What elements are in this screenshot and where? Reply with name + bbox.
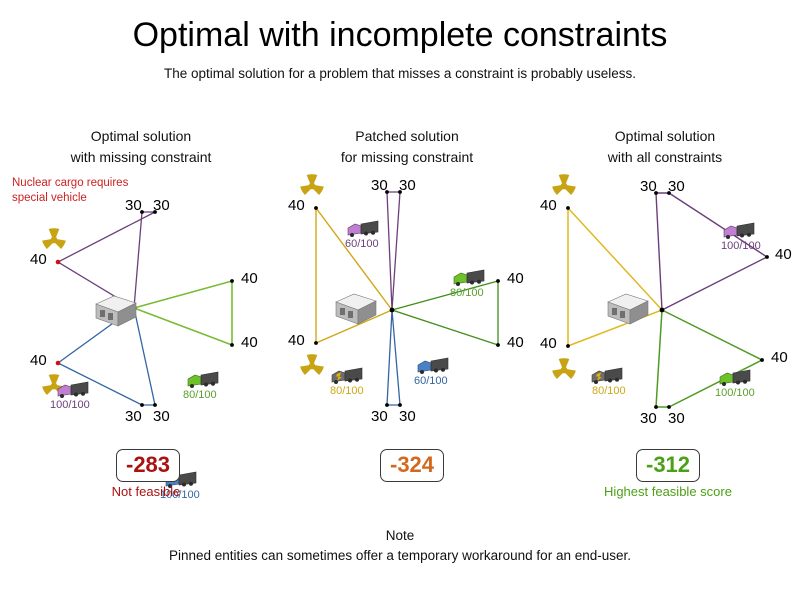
note-body: Pinned entities can sometimes offer a te… bbox=[0, 548, 800, 563]
route-purple bbox=[58, 212, 155, 308]
demand-label: 40 bbox=[241, 334, 258, 351]
demand-label: 40 bbox=[288, 197, 305, 214]
route-blue bbox=[387, 310, 400, 405]
panel-optimal-missing-constraint: Optimal solution with missing constraint… bbox=[8, 118, 274, 428]
green-truck-icon bbox=[454, 270, 484, 286]
panel-optimal-all-constraints: Optimal solution with all constraints bbox=[532, 118, 798, 428]
customer-nodes bbox=[140, 210, 234, 407]
panel-2-canvas bbox=[274, 118, 540, 428]
gold-truck-icon bbox=[332, 368, 362, 384]
demand-label: 30 bbox=[153, 197, 170, 214]
depot-node bbox=[390, 308, 395, 313]
score-badge-panel-2: -324 bbox=[380, 449, 444, 482]
blue-truck-icon bbox=[418, 358, 448, 374]
demand-label: 30 bbox=[399, 408, 416, 425]
demand-label: 40 bbox=[507, 334, 524, 351]
demand-label: 40 bbox=[288, 332, 305, 349]
vehicle-capacity-label: 60/100 bbox=[345, 238, 379, 250]
panel-1-canvas bbox=[8, 118, 274, 428]
diagram-page: Optimal with incomplete constraints The … bbox=[0, 0, 800, 600]
purple-truck-icon bbox=[348, 221, 378, 237]
vehicle-capacity-label: 80/100 bbox=[330, 385, 364, 397]
green-truck-icon bbox=[720, 370, 750, 386]
page-subtitle: The optimal solution for a problem that … bbox=[0, 66, 800, 81]
demand-label: 30 bbox=[640, 178, 657, 195]
demand-label: 30 bbox=[371, 177, 388, 194]
vehicle-capacity-label: 80/100 bbox=[183, 389, 217, 401]
radiation-icon bbox=[300, 354, 324, 375]
gold-truck-icon bbox=[592, 368, 622, 384]
purple-truck-icon bbox=[58, 382, 88, 398]
demand-label: 40 bbox=[30, 251, 47, 268]
demand-label: 30 bbox=[125, 197, 142, 214]
panel-patched-missing-constraint: Patched solution for missing constraint bbox=[274, 118, 540, 428]
demand-label: 30 bbox=[399, 177, 416, 194]
vehicle-capacity-label: 80/100 bbox=[450, 287, 484, 299]
purple-truck-icon bbox=[724, 223, 754, 239]
demand-label: 30 bbox=[668, 178, 685, 195]
depot-icon bbox=[608, 294, 648, 324]
route-green bbox=[134, 281, 232, 345]
demand-label: 40 bbox=[775, 246, 792, 263]
demand-label: 40 bbox=[540, 197, 557, 214]
score-badge-panel-3: -312 bbox=[636, 449, 700, 482]
demand-label: 40 bbox=[771, 349, 788, 366]
green-truck-icon bbox=[188, 372, 218, 388]
demand-label: 40 bbox=[507, 270, 524, 287]
demand-label: 30 bbox=[125, 408, 142, 425]
demand-label: 30 bbox=[668, 410, 685, 427]
note-heading: Note bbox=[0, 528, 800, 543]
radiation-icon bbox=[552, 174, 576, 195]
depot-icon bbox=[96, 296, 136, 326]
score-caption-panel-1: Not feasible bbox=[66, 484, 226, 499]
vehicle-capacity-label: 80/100 bbox=[592, 385, 626, 397]
demand-label: 30 bbox=[153, 408, 170, 425]
demand-label: 40 bbox=[241, 270, 258, 287]
route-gold bbox=[568, 208, 662, 346]
demand-label: 40 bbox=[540, 335, 557, 352]
vehicle-capacity-label: 60/100 bbox=[414, 375, 448, 387]
radiation-icon bbox=[42, 228, 66, 249]
demand-label: 30 bbox=[640, 410, 657, 427]
depot-node bbox=[660, 308, 665, 313]
nuclear-customer-nodes bbox=[56, 260, 61, 366]
route-purple bbox=[387, 192, 400, 310]
score-caption-panel-3: Highest feasible score bbox=[580, 484, 756, 499]
vehicle-capacity-label: 100/100 bbox=[715, 387, 755, 399]
score-badge-panel-1: -283 bbox=[116, 449, 180, 482]
demand-label: 30 bbox=[371, 408, 388, 425]
radiation-icon bbox=[552, 358, 576, 379]
vehicle-capacity-label: 100/100 bbox=[50, 399, 90, 411]
demand-label: 40 bbox=[30, 352, 47, 369]
vehicle-capacity-label: 100/100 bbox=[721, 240, 761, 252]
radiation-icon bbox=[300, 174, 324, 195]
panel-3-canvas bbox=[532, 118, 798, 428]
page-title: Optimal with incomplete constraints bbox=[0, 16, 800, 55]
